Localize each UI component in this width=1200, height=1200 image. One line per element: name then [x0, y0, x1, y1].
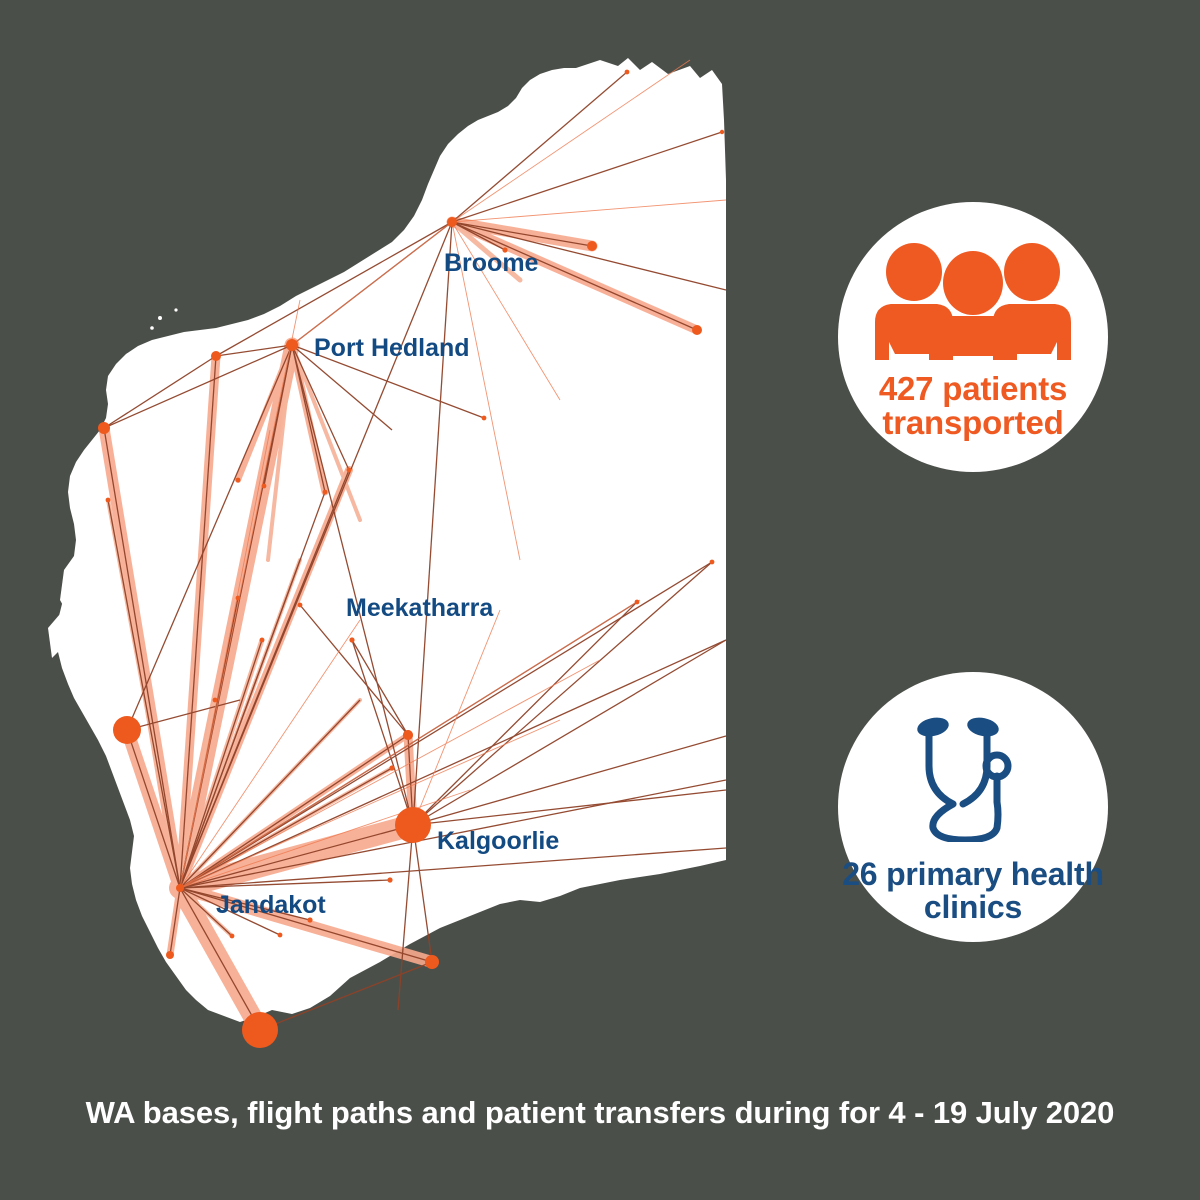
- stat-badge-patients: 427 patients transported: [838, 202, 1108, 472]
- node-port-hedland: [286, 339, 298, 351]
- node-esperance: [242, 1012, 278, 1048]
- node-broome: [447, 217, 457, 227]
- figure-caption: WA bases, flight paths and patient trans…: [0, 1095, 1200, 1131]
- node-kalgoorlie: [395, 807, 431, 843]
- label-broome: Broome: [444, 249, 539, 277]
- people-group-icon: [873, 242, 1073, 360]
- patients-stat-label: 427 patients transported: [838, 372, 1108, 441]
- node-meekatharra: [403, 730, 413, 740]
- label-jandakot: Jandakot: [216, 891, 326, 919]
- wa-flight-map: Broome Port Hedland Meekatharra Kalgoorl…: [0, 0, 800, 1080]
- map-svg: Broome Port Hedland Meekatharra Kalgoorl…: [0, 0, 800, 1080]
- node-geraldton: [113, 716, 141, 744]
- label-kalgoorlie: Kalgoorlie: [437, 827, 559, 855]
- land-silhouette: [48, 58, 726, 1022]
- clinics-stat-label: 26 primary health clinics: [838, 858, 1108, 925]
- label-meekatharra: Meekatharra: [346, 594, 494, 622]
- stat-badge-clinics: 26 primary health clinics: [838, 672, 1108, 942]
- infographic-canvas: Broome Port Hedland Meekatharra Kalgoorl…: [0, 0, 1200, 1200]
- label-port-hedland: Port Hedland: [314, 334, 470, 362]
- node-jandakot: [176, 884, 184, 892]
- stethoscope-icon: [903, 710, 1043, 842]
